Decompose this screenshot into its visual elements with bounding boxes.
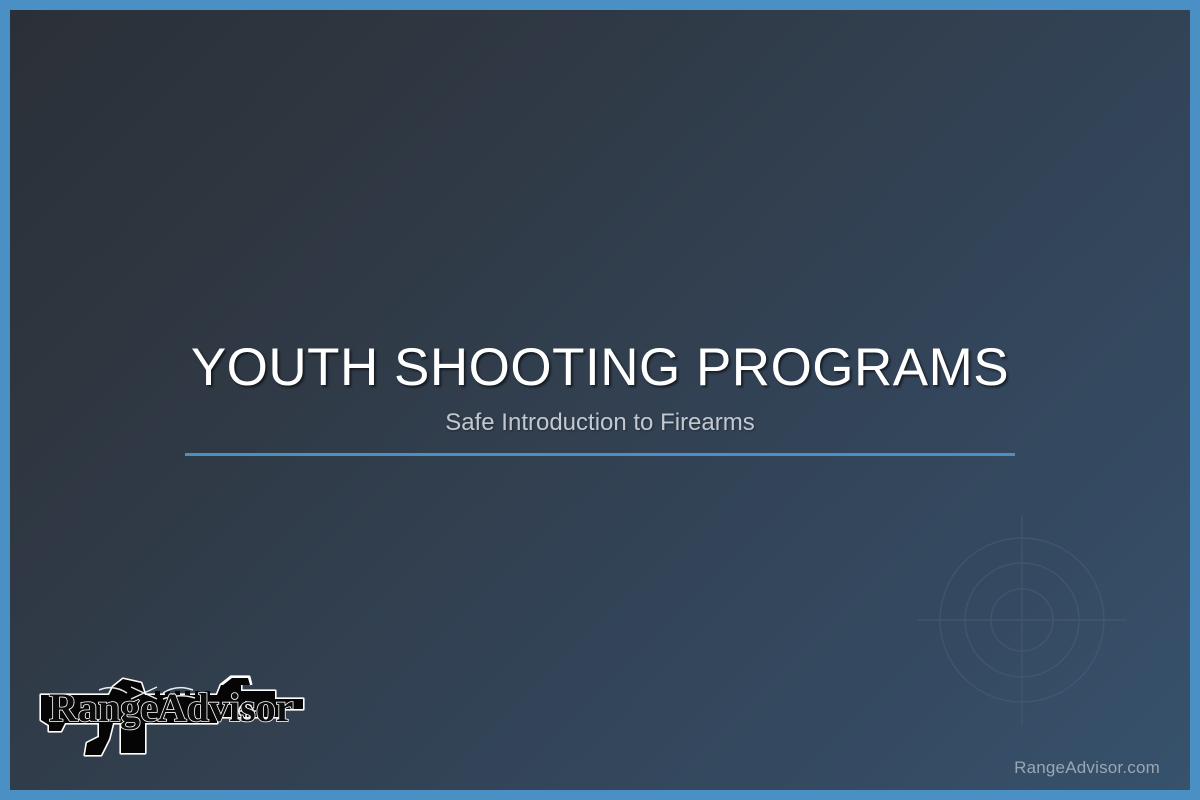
brand-logo[interactable]: RangeAdvisor	[35, 665, 310, 760]
slide-canvas: YOUTH SHOOTING PROGRAMS Safe Introductio…	[10, 10, 1190, 790]
accent-divider	[185, 453, 1015, 456]
page-title: YOUTH SHOOTING PROGRAMS	[10, 340, 1190, 396]
target-reticle-icon	[912, 510, 1132, 730]
presentation-slide: YOUTH SHOOTING PROGRAMS Safe Introductio…	[0, 0, 1200, 800]
page-subtitle: Safe Introduction to Firearms	[10, 410, 1190, 436]
title-block: YOUTH SHOOTING PROGRAMS Safe Introductio…	[10, 340, 1190, 456]
footer-url: RangeAdvisor.com	[1014, 758, 1160, 778]
brand-wordmark: RangeAdvisor	[49, 685, 293, 730]
